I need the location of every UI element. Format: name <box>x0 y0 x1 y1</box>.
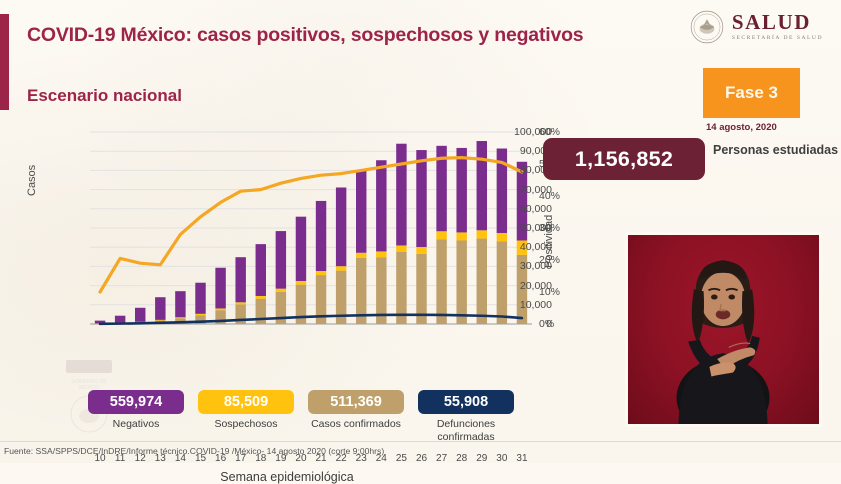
bar-segment <box>477 239 487 324</box>
x-tick-label: 27 <box>436 453 447 464</box>
slide-root: COVID-19 México: casos positivos, sospec… <box>0 0 841 463</box>
bar-segment <box>296 217 306 281</box>
mexico-eagle-emblem-icon <box>690 10 724 44</box>
y-tick-label: 10,000 <box>490 299 552 311</box>
salud-logo: SALUD SECRETARÍA DE SALUD <box>690 10 823 44</box>
x-tick-label: 25 <box>396 453 407 464</box>
bar-segment <box>155 320 165 321</box>
y-tick-label: 60,000 <box>490 203 552 215</box>
fase-date: 14 agosto, 2020 <box>706 122 777 133</box>
bar-segment <box>456 240 466 324</box>
sign-language-video[interactable] <box>625 232 822 427</box>
source-footer: Fuente: SSA/SPPS/DCE/InDRE/Informe técni… <box>4 446 384 456</box>
bar-segment <box>215 308 225 310</box>
y2-tick-label: 30% <box>539 222 560 234</box>
bar-segment <box>376 251 386 257</box>
legend-item: 511,369Casos confirmados <box>308 390 404 443</box>
covid-chart: 010,00020,00030,00040,00050,00060,00070,… <box>22 126 552 366</box>
bar-segment <box>175 291 185 317</box>
bar-segment <box>356 170 366 253</box>
legend-value: 55,908 <box>418 390 514 414</box>
y-tick-label: 40,000 <box>490 241 552 253</box>
bar-segment <box>155 297 165 320</box>
bar-segment <box>296 281 306 285</box>
bar-segment <box>497 233 507 241</box>
fase-badge: Fase 3 <box>703 68 800 118</box>
bar-segment <box>195 314 205 315</box>
legend-item: 55,908Defunciones confirmadas <box>418 390 514 443</box>
bar-segment <box>235 257 245 302</box>
bar-segment <box>376 160 386 251</box>
legend-caption: Sospechosos <box>198 418 294 431</box>
y2-tick-label: 10% <box>539 286 560 298</box>
bar-segment <box>396 252 406 324</box>
legend-caption: Defunciones confirmadas <box>418 418 514 443</box>
interpreter-figure-icon <box>628 235 819 424</box>
bar-segment <box>256 244 266 296</box>
bar-segment <box>416 247 426 254</box>
bar-segment <box>175 317 185 318</box>
x-tick-label: 28 <box>456 453 467 464</box>
x-tick-label: 29 <box>476 453 487 464</box>
title-accent-bar <box>0 14 9 110</box>
y2-tick-label: 60% <box>539 126 560 138</box>
video-inner <box>628 235 819 424</box>
bar-segment <box>276 289 286 292</box>
bar-segment <box>396 144 406 246</box>
legend-caption: Negativos <box>88 418 184 431</box>
x-tick-label: 31 <box>516 453 527 464</box>
legend-item: 559,974Negativos <box>88 390 184 443</box>
bar-segment <box>215 268 225 309</box>
legend-caption: Casos confirmados <box>308 418 404 431</box>
salud-word: SALUD <box>732 12 823 33</box>
y2-tick-label: 0% <box>539 318 554 330</box>
x-tick-label: 26 <box>416 453 427 464</box>
x-tick-label: 30 <box>496 453 507 464</box>
bar-segment <box>276 231 286 289</box>
bar-segment <box>416 150 426 247</box>
legend-item: 85,509Sospechosos <box>198 390 294 443</box>
bar-segment <box>477 230 487 238</box>
bar-segment <box>356 253 366 258</box>
bar-segment <box>456 232 466 240</box>
bar-segment <box>436 240 446 324</box>
bar-segment <box>336 187 346 266</box>
page-subtitle: Escenario nacional <box>27 86 182 106</box>
bar-segment <box>316 201 326 271</box>
salud-sub: SECRETARÍA DE SALUD <box>732 36 823 42</box>
bar-segment <box>336 266 346 270</box>
x-axis-title: Semana epidemiológica <box>22 470 552 484</box>
bar-segment <box>115 316 125 323</box>
chart-canvas <box>22 126 552 366</box>
salud-wordmark: SALUD SECRETARÍA DE SALUD <box>732 12 823 42</box>
bar-segment <box>316 271 326 275</box>
bar-segment <box>195 283 205 314</box>
people-studied-label: Personas estudiadas <box>713 143 838 159</box>
y2-tick-label: 20% <box>539 254 560 266</box>
page-title: COVID-19 México: casos positivos, sospec… <box>27 24 583 47</box>
legend-value: 559,974 <box>88 390 184 414</box>
people-studied-value: 1,156,852 <box>543 138 705 180</box>
legend-value: 511,369 <box>308 390 404 414</box>
bar-segment <box>135 308 145 322</box>
bar-segment <box>235 302 245 304</box>
bar-segment <box>396 245 406 252</box>
legend-value: 85,509 <box>198 390 294 414</box>
bar-segment <box>256 296 266 299</box>
bar-segment <box>477 141 487 230</box>
y2-tick-label: 40% <box>539 190 560 202</box>
bar-segment <box>436 231 446 239</box>
bar-segment <box>456 148 466 232</box>
chart-legend: 559,974Negativos85,509Sospechosos511,369… <box>88 390 514 443</box>
footer-divider <box>0 441 841 442</box>
